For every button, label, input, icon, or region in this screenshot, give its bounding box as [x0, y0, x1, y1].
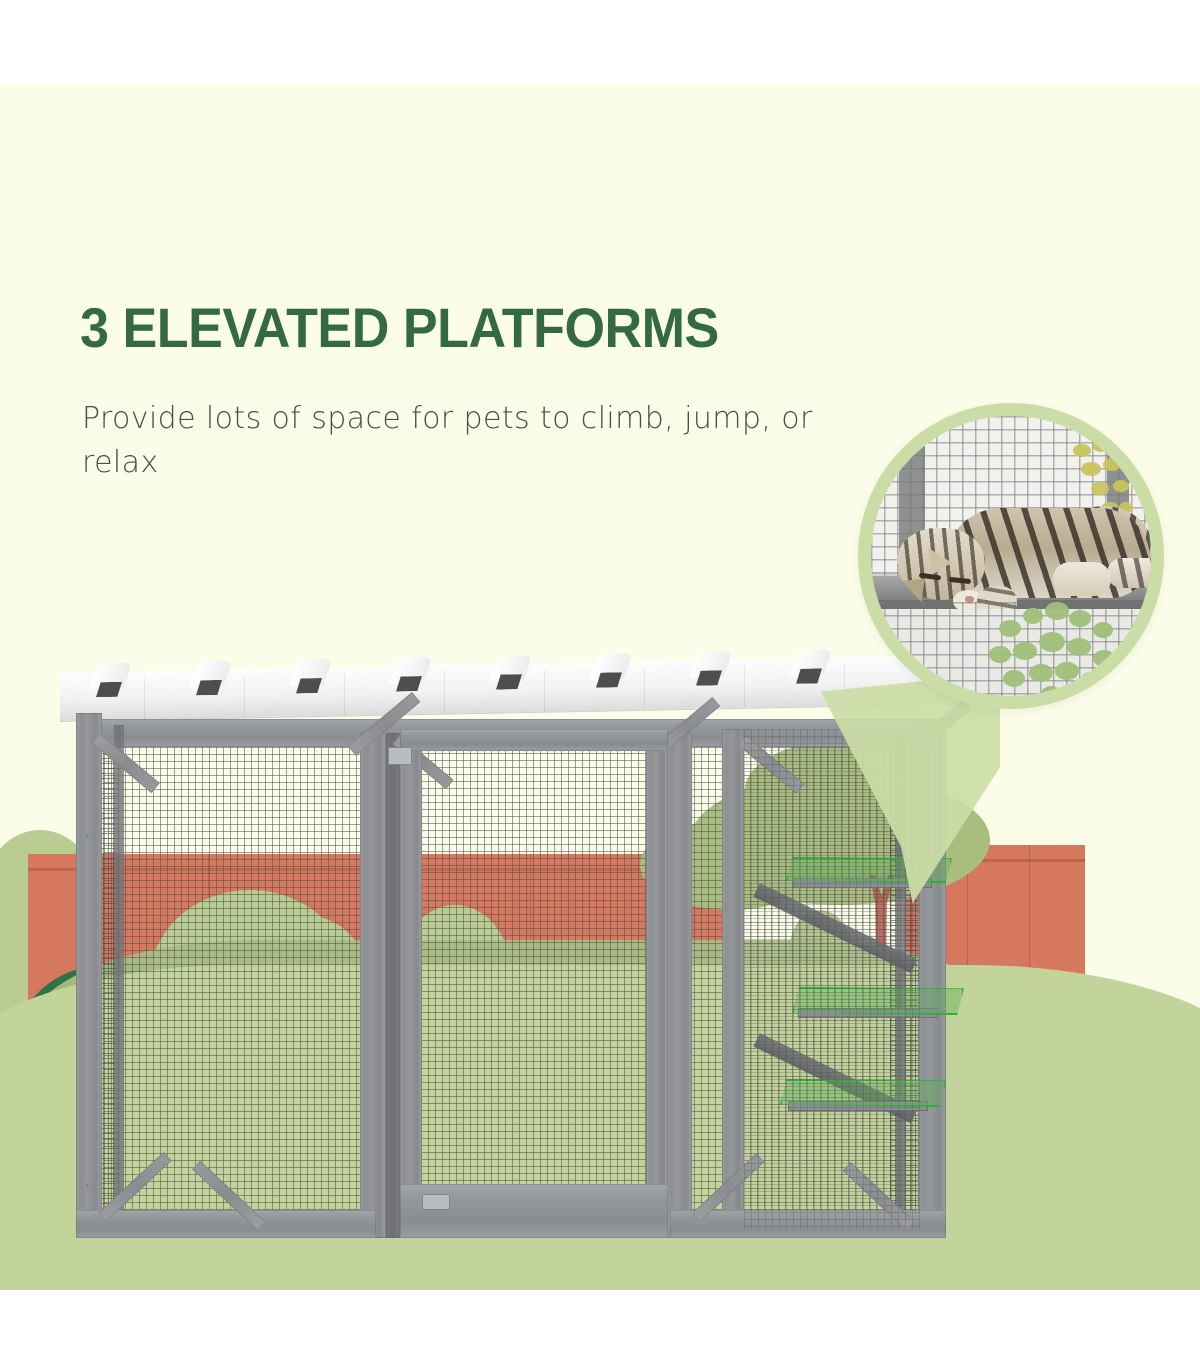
door-hinge-top[interactable] [388, 747, 412, 765]
cat-eye-right [949, 577, 971, 584]
catio-door[interactable] [400, 729, 668, 1238]
post-left-inner [360, 733, 386, 1238]
bottom-rail-left [76, 1210, 376, 1238]
door-jamb-left [386, 733, 400, 1238]
corner-post-left [76, 713, 102, 1238]
page-subtitle: Provide lots of space for pets to climb,… [82, 397, 862, 486]
page-title: 3 ELEVATED PLATFORMS [80, 300, 719, 356]
photo-bottom-plant [989, 602, 1149, 696]
cat-tail [1107, 558, 1151, 588]
bottom-white-strip [0, 1290, 1200, 1372]
door-rail-bottom [400, 1184, 668, 1238]
post-right-inner [666, 733, 692, 1238]
callout-photo [871, 416, 1151, 696]
mesh-panel-left [104, 719, 384, 1229]
cat-head [897, 528, 985, 600]
side-depth-post [114, 725, 124, 1237]
cat-front-paw-tucked [1053, 562, 1111, 596]
door-hinge-bottom[interactable] [422, 1194, 450, 1210]
catio-enclosure [70, 673, 950, 1248]
door-stile-right [646, 729, 668, 1238]
door-stile-left [400, 729, 422, 1238]
cream-background-panel: 3 ELEVATED PLATFORMS Provide lots of spa… [0, 85, 1200, 1290]
door-rail-top [400, 729, 668, 751]
cat-ear-left [927, 544, 953, 574]
callout-circle [858, 403, 1164, 709]
post-mid-right [722, 729, 744, 1238]
marketing-feature-slide: 3 ELEVATED PLATFORMS Provide lots of spa… [0, 0, 1200, 1372]
